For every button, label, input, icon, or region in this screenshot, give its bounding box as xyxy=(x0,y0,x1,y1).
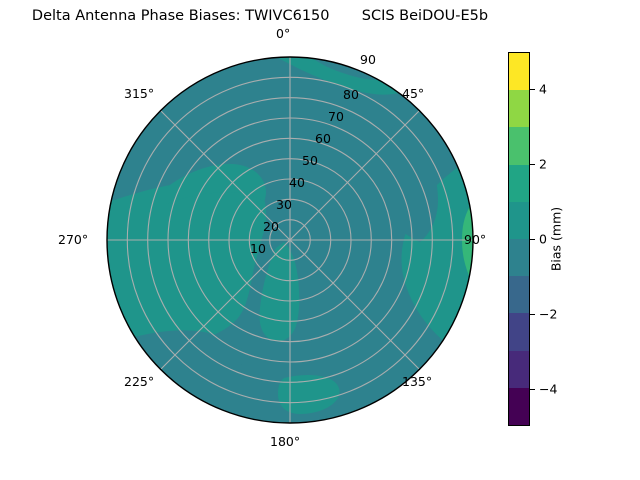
colorbar-band-minus4-to-minus3 xyxy=(509,351,529,388)
r-tick-40: 40 xyxy=(289,175,305,190)
colorbar-tick-mark-4 xyxy=(530,89,535,90)
theta-tick-270: 270° xyxy=(58,232,88,247)
colorbar-tick-label-minus2: −2 xyxy=(539,306,557,321)
colorbar-band-minus1-to-0 xyxy=(509,239,529,276)
colorbar-gradient xyxy=(508,52,530,426)
r-tick-50: 50 xyxy=(302,153,318,168)
theta-tick-135: 135° xyxy=(402,374,432,389)
colorbar-band-minus3-to-minus2 xyxy=(509,313,529,350)
polar-axes: 0° 45° 90° 135° 180° 225° 270° 315° 90 8… xyxy=(106,56,474,424)
colorbar-tick-label-4: 4 xyxy=(539,82,547,97)
colorbar: 4 2 0 −2 −4 xyxy=(508,52,530,426)
theta-tick-225: 225° xyxy=(124,374,154,389)
r-tick-70: 70 xyxy=(328,109,344,124)
colorbar-tick-label-minus4: −4 xyxy=(539,381,557,396)
colorbar-band-minus2-to-minus1 xyxy=(509,276,529,313)
theta-tick-90: 90° xyxy=(464,232,486,247)
figure-title: Delta Antenna Phase Biases: TWIVC6150 SC… xyxy=(0,8,520,24)
colorbar-band-2-to-3 xyxy=(509,127,529,164)
colorbar-band-1-to-2 xyxy=(509,165,529,202)
theta-tick-0: 0° xyxy=(276,26,290,41)
colorbar-tick-mark-2 xyxy=(530,164,535,165)
colorbar-tick-mark-minus4 xyxy=(530,389,535,390)
theta-tick-315: 315° xyxy=(124,86,154,101)
colorbar-tick-mark-0 xyxy=(530,239,535,240)
polar-grid xyxy=(107,57,473,423)
colorbar-band-minus5-to-minus4 xyxy=(509,388,529,425)
colorbar-band-0-to-1 xyxy=(509,202,529,239)
r-tick-20: 20 xyxy=(263,219,279,234)
colorbar-axis-label: Bias (mm) xyxy=(549,207,564,271)
colorbar-band-4-to-5 xyxy=(509,53,529,90)
colorbar-band-3-to-4 xyxy=(509,90,529,127)
theta-tick-45: 45° xyxy=(402,86,424,101)
r-tick-30: 30 xyxy=(276,197,292,212)
colorbar-tick-label-2: 2 xyxy=(539,157,547,172)
polar-plot-svg xyxy=(106,56,474,424)
colorbar-tick-label-0: 0 xyxy=(539,232,547,247)
colorbar-tick-mark-minus2 xyxy=(530,314,535,315)
r-tick-80: 80 xyxy=(343,87,359,102)
theta-tick-180: 180° xyxy=(270,434,300,449)
r-tick-90: 90 xyxy=(360,52,376,67)
r-tick-10: 10 xyxy=(250,241,266,256)
r-tick-60: 60 xyxy=(315,131,331,146)
figure-canvas: Delta Antenna Phase Biases: TWIVC6150 SC… xyxy=(0,0,640,480)
